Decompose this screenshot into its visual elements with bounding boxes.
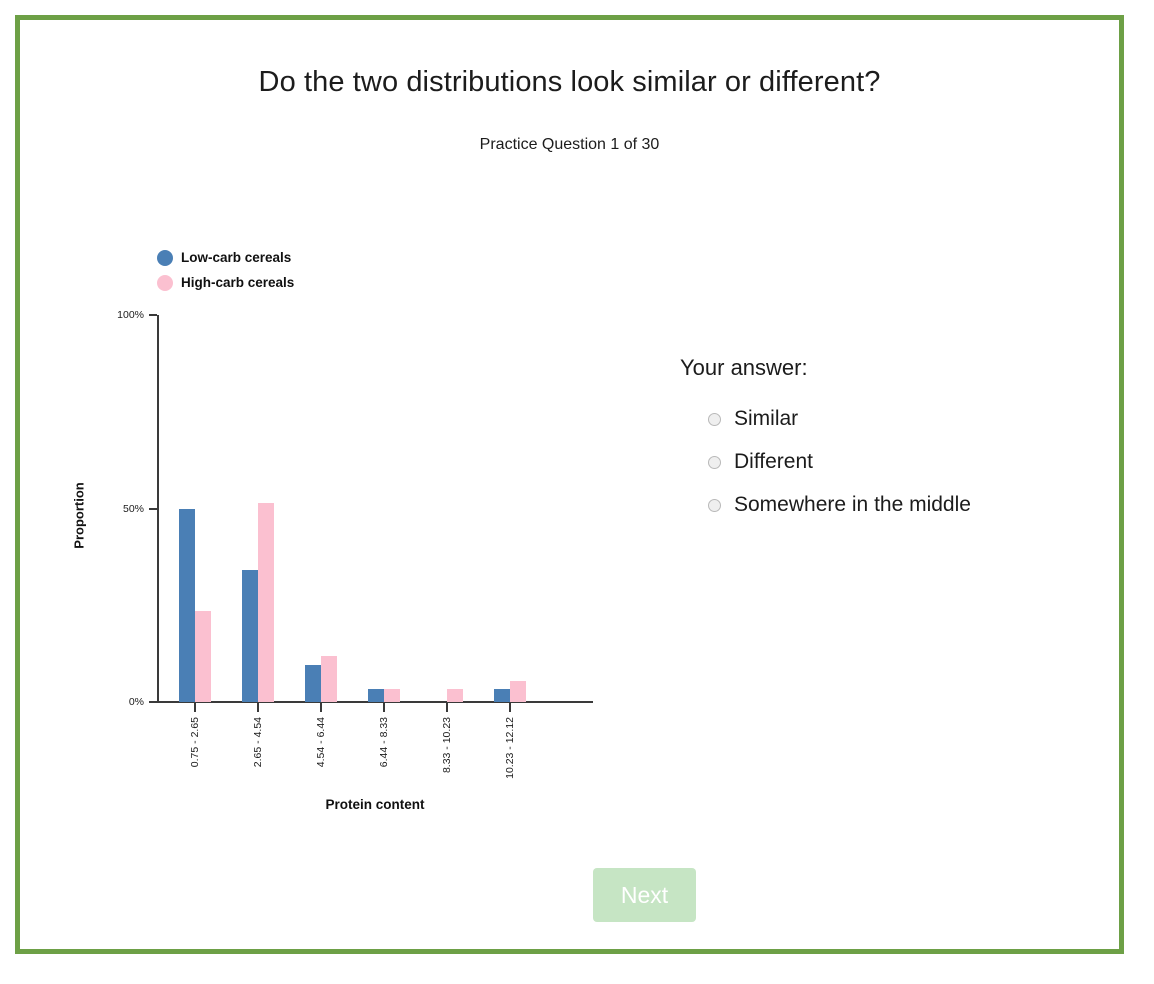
distribution-chart: Low-carb cereals High-carb cereals Propo…	[80, 220, 650, 820]
answer-option-label: Different	[734, 450, 813, 474]
chart-bar	[305, 665, 321, 702]
x-axis-tick	[446, 703, 448, 712]
radio-button-icon[interactable]	[708, 499, 721, 512]
y-axis-tick-label: 100%	[117, 309, 144, 321]
x-axis-tick-label: 0.75 - 2.65	[189, 717, 201, 767]
x-axis-tick	[194, 703, 196, 712]
radio-button-icon[interactable]	[708, 413, 721, 426]
y-axis-tick	[149, 508, 157, 510]
chart-bar	[321, 656, 337, 702]
answer-option-3[interactable]: Somewhere in the middle	[680, 493, 1100, 517]
x-axis-tick-label: 6.44 - 8.33	[378, 717, 390, 767]
x-axis-tick	[383, 703, 385, 712]
x-axis-tick-label: 4.54 - 6.44	[315, 717, 327, 767]
next-button[interactable]: Next	[593, 868, 696, 922]
x-axis-tick	[320, 703, 322, 712]
answer-option-label: Similar	[734, 407, 798, 431]
answer-option-label: Somewhere in the middle	[734, 493, 971, 517]
radio-button-icon[interactable]	[708, 456, 721, 469]
y-axis-title: Proportion	[72, 482, 87, 548]
y-axis-tick	[149, 701, 157, 703]
x-axis-title: Protein content	[157, 797, 593, 812]
chart-bar	[384, 689, 400, 702]
chart-bar	[447, 689, 463, 702]
survey-page-frame: Do the two distributions look similar or…	[15, 15, 1124, 954]
question-progress: Practice Question 1 of 30	[20, 136, 1119, 154]
answer-options-group: SimilarDifferentSomewhere in the middle	[680, 407, 1100, 517]
x-axis-tick-label: 8.33 - 10.23	[441, 717, 453, 773]
x-axis-tick	[257, 703, 259, 712]
chart-bar	[179, 509, 195, 703]
chart-bars-layer	[157, 315, 593, 702]
answer-option-1[interactable]: Similar	[680, 407, 1100, 431]
x-axis-tick-label: 2.65 - 4.54	[252, 717, 264, 767]
chart-bar	[242, 570, 258, 702]
y-axis-tick	[149, 314, 157, 316]
chart-bar	[368, 689, 384, 702]
answer-option-2[interactable]: Different	[680, 450, 1100, 474]
page-title: Do the two distributions look similar or…	[20, 66, 1119, 99]
chart-bar	[494, 689, 510, 702]
x-axis-tick	[509, 703, 511, 712]
answer-heading: Your answer:	[680, 355, 1100, 381]
chart-plot-area: Proportion Protein content 100%50%0%0.75…	[80, 220, 650, 820]
y-axis-tick-label: 0%	[129, 696, 144, 708]
answer-panel: Your answer: SimilarDifferentSomewhere i…	[680, 355, 1100, 536]
chart-bar	[510, 681, 526, 702]
y-axis-tick-label: 50%	[123, 503, 144, 515]
chart-bar	[195, 611, 211, 702]
chart-bar	[258, 503, 274, 702]
x-axis-tick-label: 10.23 - 12.12	[504, 717, 516, 779]
